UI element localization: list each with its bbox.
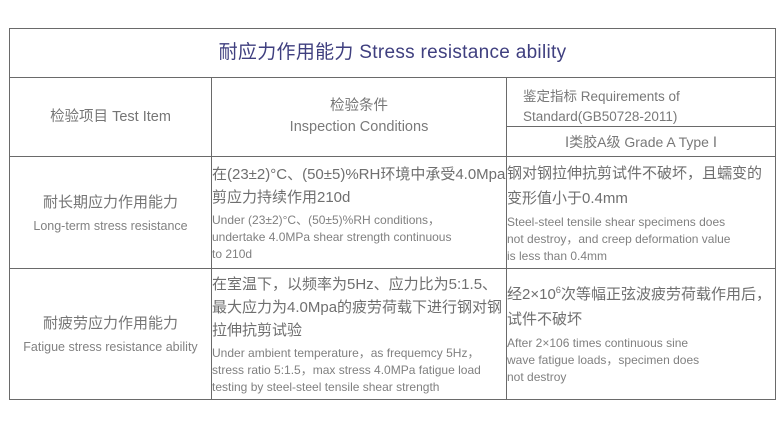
row1-requirements-en: Steel-steel tensile shear specimens does… — [507, 214, 775, 265]
row2-requirements-en-line-2: wave fatigue loads，specimen does — [507, 352, 775, 369]
row1-requirements-en-line-3: is less than 0.4mm — [507, 248, 775, 265]
row2-conditions-en-line-1: Under ambient temperature，as frequemcy 5… — [212, 345, 506, 362]
header-requirements-grade: Ⅰ类胶A级 Grade A Type Ⅰ — [507, 127, 775, 156]
row2-test-item-cn: 耐疲劳应力作用能力 — [10, 312, 211, 336]
row2-requirements-cn: 经2×106次等幅正弦波疲劳荷载作用后，试件不破坏 — [507, 282, 775, 332]
row2-test-item-en: Fatigue stress resistance ability — [10, 338, 211, 356]
header-requirements: 鉴定指标 Requirements of Standard(GB50728-20… — [507, 78, 776, 157]
header-requirements-wrap: 鉴定指标 Requirements of Standard(GB50728-20… — [507, 78, 775, 156]
header-inspection-conditions-en: Inspection Conditions — [212, 117, 506, 138]
table-title-cell: 耐应力作用能力 Stress resistance ability — [10, 29, 776, 78]
row2-requirements-en-line-1: After 2×106 times continuous sine — [507, 335, 775, 352]
header-inspection-conditions: 检验条件 Inspection Conditions — [212, 78, 507, 157]
row1-conditions-cn: 在(23±2)°C、(50±5)%RH环境中承受4.0Mpa剪应力持续作用210… — [212, 163, 506, 209]
header-test-item-label: 检验项目 Test Item — [50, 109, 171, 125]
header-inspection-conditions-cn: 检验条件 — [330, 98, 388, 114]
row1-test-item: 耐长期应力作用能力 Long-term stress resistance — [10, 157, 212, 269]
header-requirements-standard: 鉴定指标 Requirements of Standard(GB50728-20… — [507, 78, 775, 127]
row2-conditions: 在室温下，以频率为5Hz、应力比为5:1.5、最大应力为4.0Mpa的疲劳荷载下… — [212, 269, 507, 400]
row2-conditions-en-line-2: stress ratio 5:1.5，max stress 4.0MPa fat… — [212, 362, 506, 379]
row1-conditions-en-line-2: undertake 4.0MPa shear strength continuo… — [212, 229, 506, 246]
row1-requirements: 钢对钢拉伸抗剪试件不破坏，且蠕变的变形值小于0.4mm Steel-steel … — [507, 157, 776, 269]
row1-test-item-cn: 耐长期应力作用能力 — [10, 191, 211, 215]
table-row: 耐长期应力作用能力 Long-term stress resistance 在(… — [10, 157, 776, 269]
row2-requirements-en-line-3: not destroy — [507, 369, 775, 386]
table-header-row: 检验项目 Test Item 检验条件 Inspection Condition… — [10, 78, 776, 157]
row1-conditions-en-line-3: to 210d — [212, 246, 506, 263]
row2-conditions-en-line-3: testing by steel-steel tensile shear str… — [212, 379, 506, 396]
row2-requirements-en: After 2×106 times continuous sine wave f… — [507, 335, 775, 386]
row1-test-item-en: Long-term stress resistance — [10, 217, 211, 235]
row2-req-cn-pre: 经2×10 — [507, 286, 556, 303]
page-title: 耐应力作用能力 Stress resistance ability — [219, 42, 567, 63]
page-root: 耐应力作用能力 Stress resistance ability 检验项目 T… — [0, 0, 784, 435]
row2-test-item: 耐疲劳应力作用能力 Fatigue stress resistance abil… — [10, 269, 212, 400]
row1-requirements-cn: 钢对钢拉伸抗剪试件不破坏，且蠕变的变形值小于0.4mm — [507, 161, 775, 211]
row1-conditions: 在(23±2)°C、(50±5)%RH环境中承受4.0Mpa剪应力持续作用210… — [212, 157, 507, 269]
table-title-row: 耐应力作用能力 Stress resistance ability — [10, 29, 776, 78]
row1-conditions-en: Under (23±2)°C、(50±5)%RH conditions， und… — [212, 212, 506, 263]
row2-requirements: 经2×106次等幅正弦波疲劳荷载作用后，试件不破坏 After 2×106 ti… — [507, 269, 776, 400]
row2-conditions-cn: 在室温下，以频率为5Hz、应力比为5:1.5、最大应力为4.0Mpa的疲劳荷载下… — [212, 273, 506, 342]
stress-resistance-table: 耐应力作用能力 Stress resistance ability 检验项目 T… — [9, 28, 776, 400]
row2-conditions-en: Under ambient temperature，as frequemcy 5… — [212, 345, 506, 396]
row1-requirements-en-line-1: Steel-steel tensile shear specimens does — [507, 214, 775, 231]
table-row: 耐疲劳应力作用能力 Fatigue stress resistance abil… — [10, 269, 776, 400]
row1-requirements-en-line-2: not destroy，and creep deformation value — [507, 231, 775, 248]
header-test-item: 检验项目 Test Item — [10, 78, 212, 157]
row1-conditions-en-line-1: Under (23±2)°C、(50±5)%RH conditions， — [212, 212, 506, 229]
